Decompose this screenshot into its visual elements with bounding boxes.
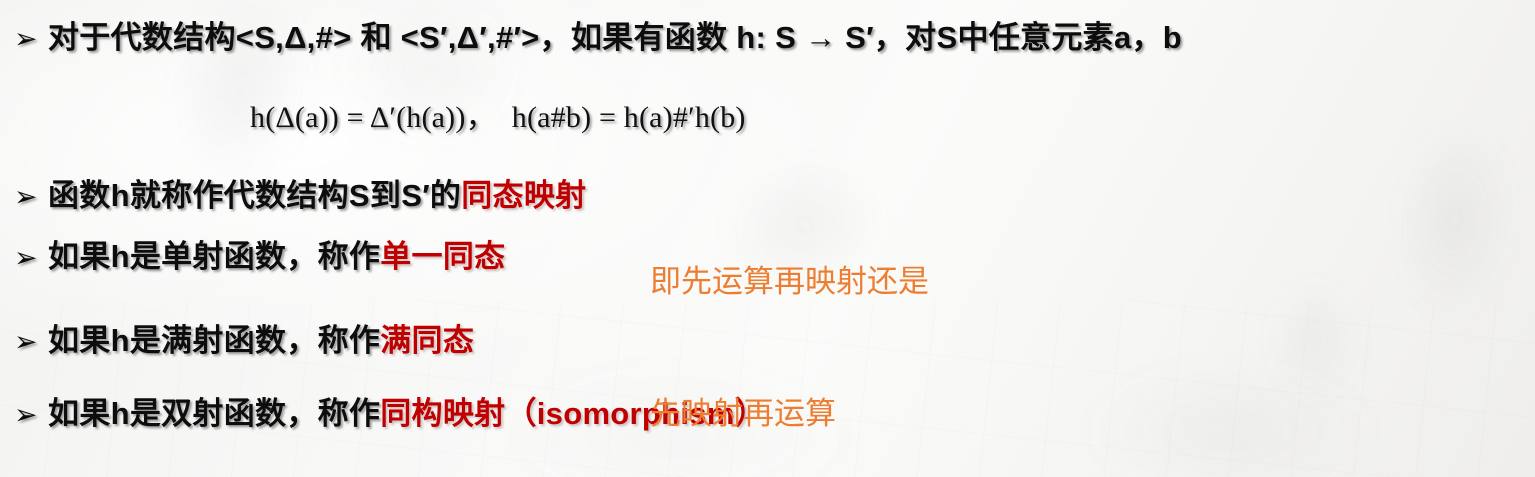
arrow-bullet-icon: ➢ bbox=[14, 180, 48, 213]
formula-right-side: h(a#b) = h(a)#′h(b) bbox=[512, 101, 746, 134]
background-texture-wash bbox=[1020, 330, 1440, 477]
homomorphism-term-highlight: 同态映射 bbox=[461, 170, 586, 215]
arrow-bullet-icon: ➢ bbox=[14, 22, 48, 55]
orange-annotation: 即先运算再映射还是 先映射再运算 bbox=[650, 172, 929, 477]
definition-line-text: 对于代数结构<S,Δ,#> 和 <S′,Δ′,#′>，如果有函数 h: S → … bbox=[48, 12, 1182, 57]
homomorphism-name-line: ➢ 函数h就称作代数结构S到S′的同态映射 bbox=[14, 170, 586, 215]
epimorphism-term-highlight: 满同态 bbox=[380, 315, 474, 360]
arrow-bullet-icon: ➢ bbox=[14, 325, 48, 358]
definition-line: ➢ 对于代数结构<S,Δ,#> 和 <S′,Δ′,#′>，如果有函数 h: S … bbox=[14, 12, 1182, 57]
isomorphism-black-text: 如果h是双射函数，称作 bbox=[48, 388, 380, 433]
homomorphism-condition-formula: h(Δ(a)) = Δ′(h(a))，h(a#b) = h(a)#′h(b) bbox=[250, 92, 746, 136]
orange-annotation-line-2: 先映射再运算 bbox=[650, 392, 929, 436]
orange-annotation-line-1: 即先运算再映射还是 bbox=[650, 260, 929, 304]
arrow-bullet-icon: ➢ bbox=[14, 241, 48, 274]
slide-canvas: ➢ 对于代数结构<S,Δ,#> 和 <S′,Δ′,#′>，如果有函数 h: S … bbox=[0, 0, 1535, 477]
background-map-silhouette bbox=[1366, 73, 1535, 367]
homomorphism-name-black-text: 函数h就称作代数结构S到S′的 bbox=[48, 170, 461, 215]
epimorphism-line: ➢ 如果h是满射函数，称作满同态 bbox=[14, 315, 474, 360]
formula-left-side: h(Δ(a)) = Δ′(h(a))， bbox=[250, 101, 496, 134]
background-map-silhouette bbox=[1255, 255, 1375, 425]
arrow-bullet-icon: ➢ bbox=[14, 398, 48, 431]
monomorphism-black-text: 如果h是单射函数，称作 bbox=[48, 231, 380, 276]
epimorphism-black-text: 如果h是满射函数，称作 bbox=[48, 315, 380, 360]
monomorphism-term-highlight: 单一同态 bbox=[380, 231, 505, 276]
monomorphism-line: ➢ 如果h是单射函数，称作单一同态 bbox=[14, 231, 505, 276]
